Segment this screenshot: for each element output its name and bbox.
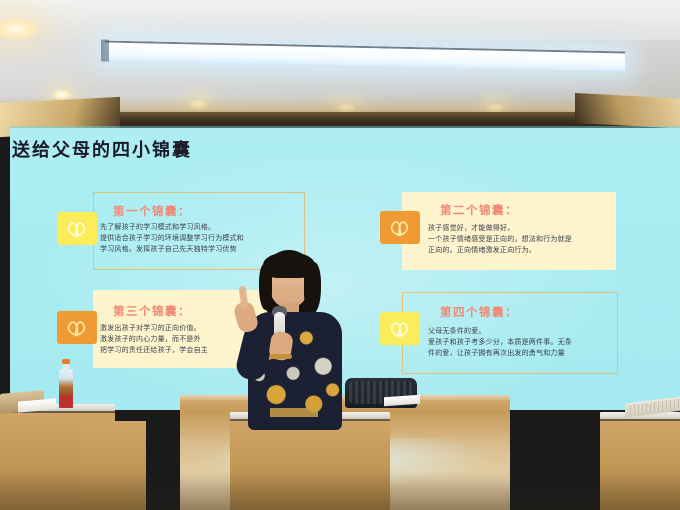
card-4-body: 父母无条件的爱。 爱孩子和孩子考多少分，本质是两件事。无条 件的爱，让孩子拥有再… <box>428 326 572 359</box>
card-1-body: 先了解孩子的学习模式和学习风格。 提供适合孩子学习的环境调整学习行为模式和 学习… <box>100 222 244 255</box>
card-3-line: 激发出孩子对学习的正向价值。 <box>100 323 208 334</box>
card-2-line: 孩子感觉好，才能做得好。 <box>428 223 572 234</box>
card-3-line: 把学习的责任还给孩子，学会自主 <box>100 345 208 356</box>
presentation-room-photo: 送给父母的四小锦囊 第一个锦囊： 先了解孩子的学习模式和学习风格。 提供适合孩子… <box>0 0 680 510</box>
card-2-body: 孩子感觉好，才能做得好。 一个孩子情绪感受是正向的，想法和行为就是 正向的。正向… <box>428 223 572 256</box>
bottle-cap <box>62 359 70 364</box>
presenter-hair-right <box>304 262 321 314</box>
card-4-line: 爱孩子和孩子考多少分，本质是两件事。无条 <box>428 337 572 348</box>
card-1-line: 先了解孩子的学习模式和学习风格。 <box>100 222 244 233</box>
card-2-line: 正向的。正向情绪激发正向行为。 <box>428 245 572 256</box>
card-4-line: 父母无条件的爱。 <box>428 326 572 337</box>
leaf-icon <box>380 211 420 244</box>
wall-right-warm-light <box>575 93 680 129</box>
foreground-shadow <box>0 470 680 510</box>
card-2-line: 一个孩子情绪感受是正向的，想法和行为就是 <box>428 234 572 245</box>
bottle-label <box>59 395 73 408</box>
card-1-line: 学习风格。发挥孩子自己先天独特学习优势 <box>100 244 244 255</box>
card-3-heading: 第三个锦囊： <box>113 303 191 319</box>
presenter-hair-left <box>259 264 272 310</box>
leaf-icon <box>57 212 97 245</box>
presenter-belt <box>270 408 318 417</box>
ceiling-panel-light <box>105 41 625 72</box>
slide-title: 送给父母的四小锦囊 <box>12 136 292 162</box>
leaf-icon <box>380 312 420 345</box>
card-3-line: 激发孩子的内心力量，而不是外 <box>100 334 208 345</box>
card-3-body: 激发出孩子对学习的正向价值。 激发孩子的内心力量，而不是外 把学习的责任还给孩子… <box>100 323 208 356</box>
presenter-bracelet <box>270 354 292 359</box>
ceiling-band <box>0 0 680 40</box>
bottle-body <box>59 369 73 408</box>
water-bottle <box>59 361 73 408</box>
card-4-line: 件的爱，让孩子拥有再次出发的勇气和力量 <box>428 348 572 359</box>
presenter <box>232 250 354 430</box>
card-1-heading: 第一个锦囊： <box>113 203 191 219</box>
leaf-icon <box>57 311 97 344</box>
card-4-heading: 第四个锦囊： <box>440 304 518 320</box>
card-1-line: 提供适合孩子学习的环境调整学习行为模式和 <box>100 233 244 244</box>
card-2-heading: 第二个锦囊： <box>440 202 518 218</box>
